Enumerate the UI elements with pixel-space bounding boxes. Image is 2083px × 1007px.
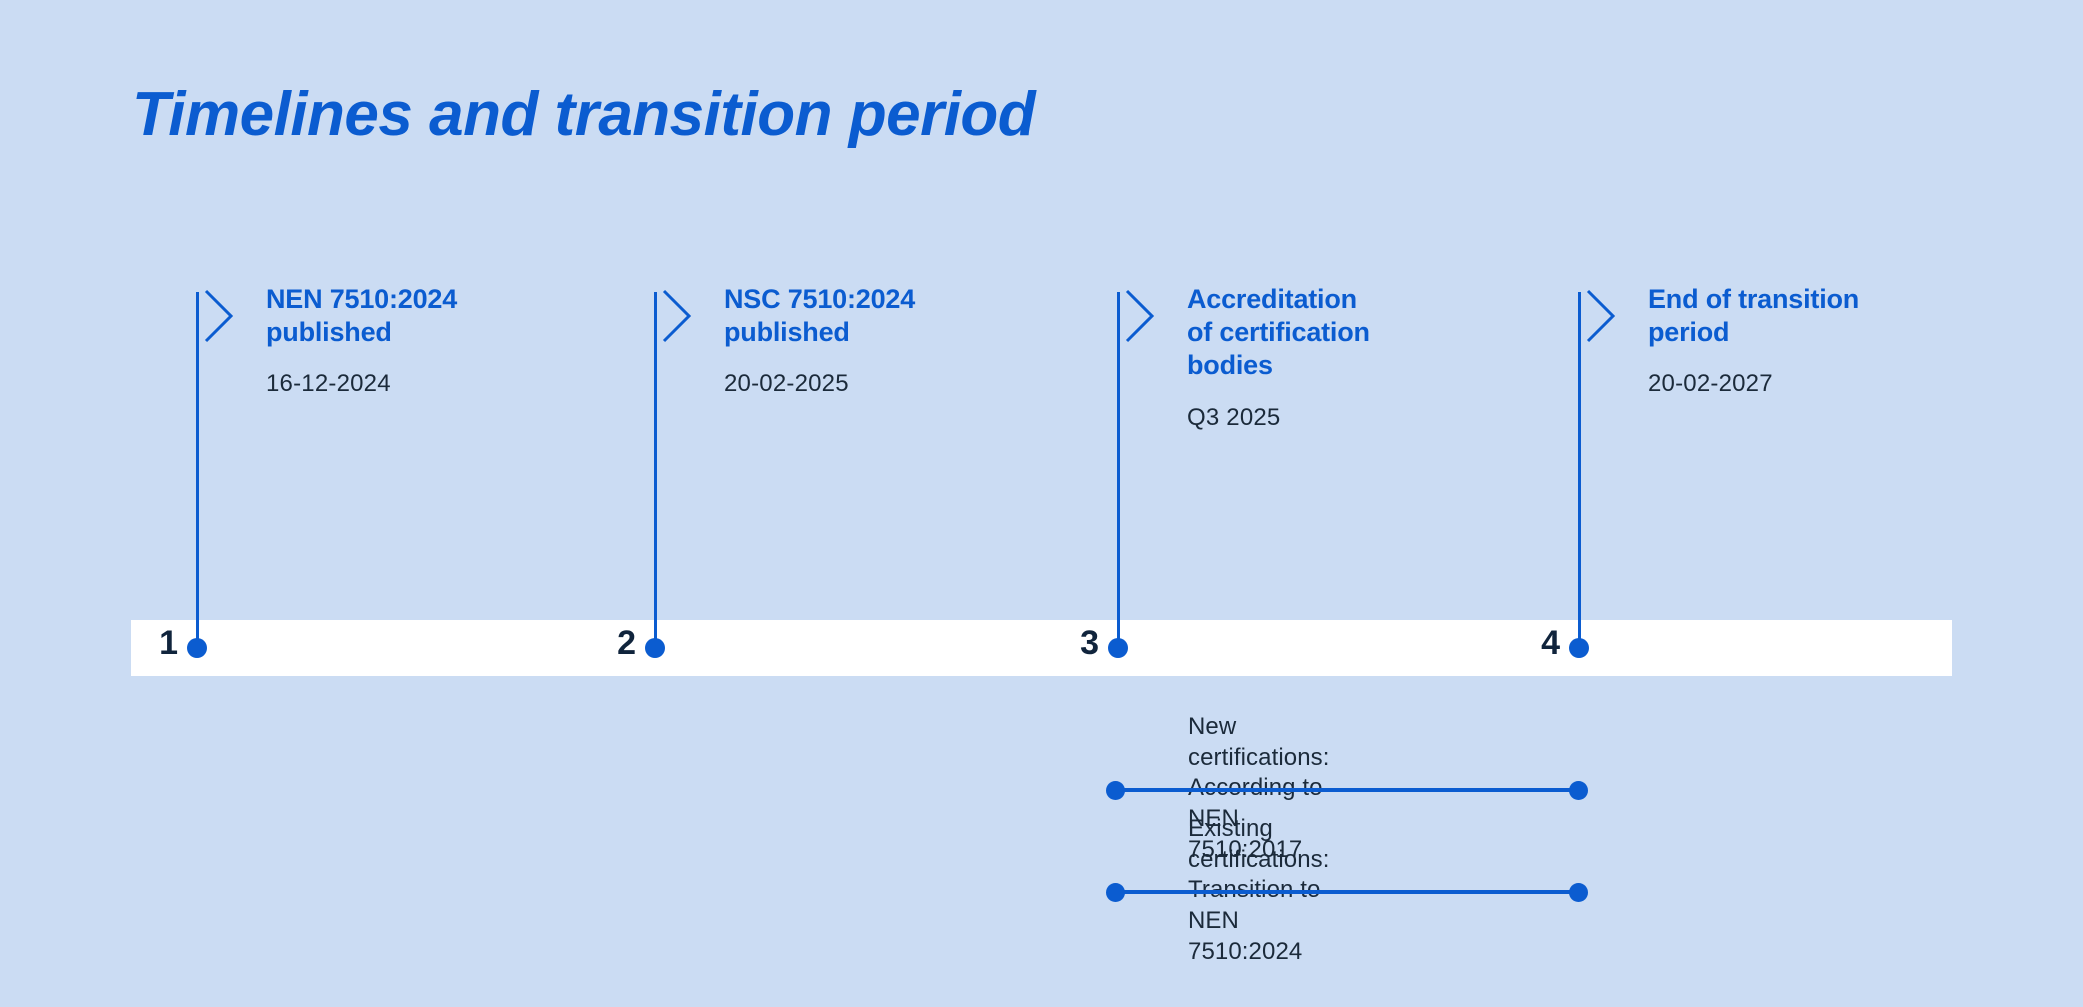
milestone-number: 2 bbox=[576, 624, 636, 663]
annotation-start-dot bbox=[1106, 781, 1125, 800]
annotation-end-dot bbox=[1569, 781, 1588, 800]
milestone-number: 3 bbox=[1039, 624, 1099, 663]
milestone-label-block: NEN 7510:2024 published16-12-2024 bbox=[266, 283, 566, 399]
milestone-label-block: End of transition period20-02-2027 bbox=[1648, 283, 1948, 399]
milestone-dot[interactable] bbox=[187, 638, 207, 658]
chevron-right-icon bbox=[1586, 288, 1616, 344]
milestone-dot[interactable] bbox=[645, 638, 665, 658]
milestone-2[interactable]: 2NSC 7510:2024 published20-02-2025 bbox=[654, 0, 655, 1007]
page-title: Timelines and transition period bbox=[132, 82, 1035, 147]
milestone-heading: End of transition period bbox=[1648, 283, 1948, 349]
chevron-right-icon bbox=[662, 288, 692, 344]
annotation-start-dot bbox=[1106, 883, 1125, 902]
milestone-1[interactable]: 1NEN 7510:2024 published16-12-2024 bbox=[196, 0, 197, 1007]
annotation-span-line bbox=[1115, 788, 1578, 792]
milestone-heading: Accreditation of certification bodies bbox=[1187, 283, 1487, 383]
milestone-heading: NSC 7510:2024 published bbox=[724, 283, 1024, 349]
milestone-date: 16-12-2024 bbox=[266, 370, 566, 399]
milestone-stem bbox=[196, 292, 199, 648]
milestone-number: 4 bbox=[1500, 624, 1560, 663]
milestone-date: 20-02-2027 bbox=[1648, 370, 1948, 399]
milestone-stem bbox=[1117, 292, 1120, 648]
milestone-date: 20-02-2025 bbox=[724, 370, 1024, 399]
milestone-label-block: Accreditation of certification bodiesQ3 … bbox=[1187, 283, 1487, 432]
milestone-4[interactable]: 4End of transition period20-02-2027 bbox=[1578, 0, 1579, 1007]
timeline-diagram: Timelines and transition period 1NEN 751… bbox=[0, 0, 2083, 1007]
milestone-label-block: NSC 7510:2024 published20-02-2025 bbox=[724, 283, 1024, 399]
milestone-heading: NEN 7510:2024 published bbox=[266, 283, 566, 349]
chevron-right-icon bbox=[204, 288, 234, 344]
chevron-right-icon bbox=[1125, 288, 1155, 344]
milestone-dot[interactable] bbox=[1108, 638, 1128, 658]
milestone-date: Q3 2025 bbox=[1187, 404, 1487, 433]
milestone-stem bbox=[654, 292, 657, 648]
annotation-end-dot bbox=[1569, 883, 1588, 902]
annotation-span-line bbox=[1115, 890, 1578, 894]
milestone-stem bbox=[1578, 292, 1581, 648]
milestone-3[interactable]: 3Accreditation of certification bodiesQ3… bbox=[1117, 0, 1118, 1007]
milestone-dot[interactable] bbox=[1569, 638, 1589, 658]
milestone-number: 1 bbox=[118, 624, 178, 663]
